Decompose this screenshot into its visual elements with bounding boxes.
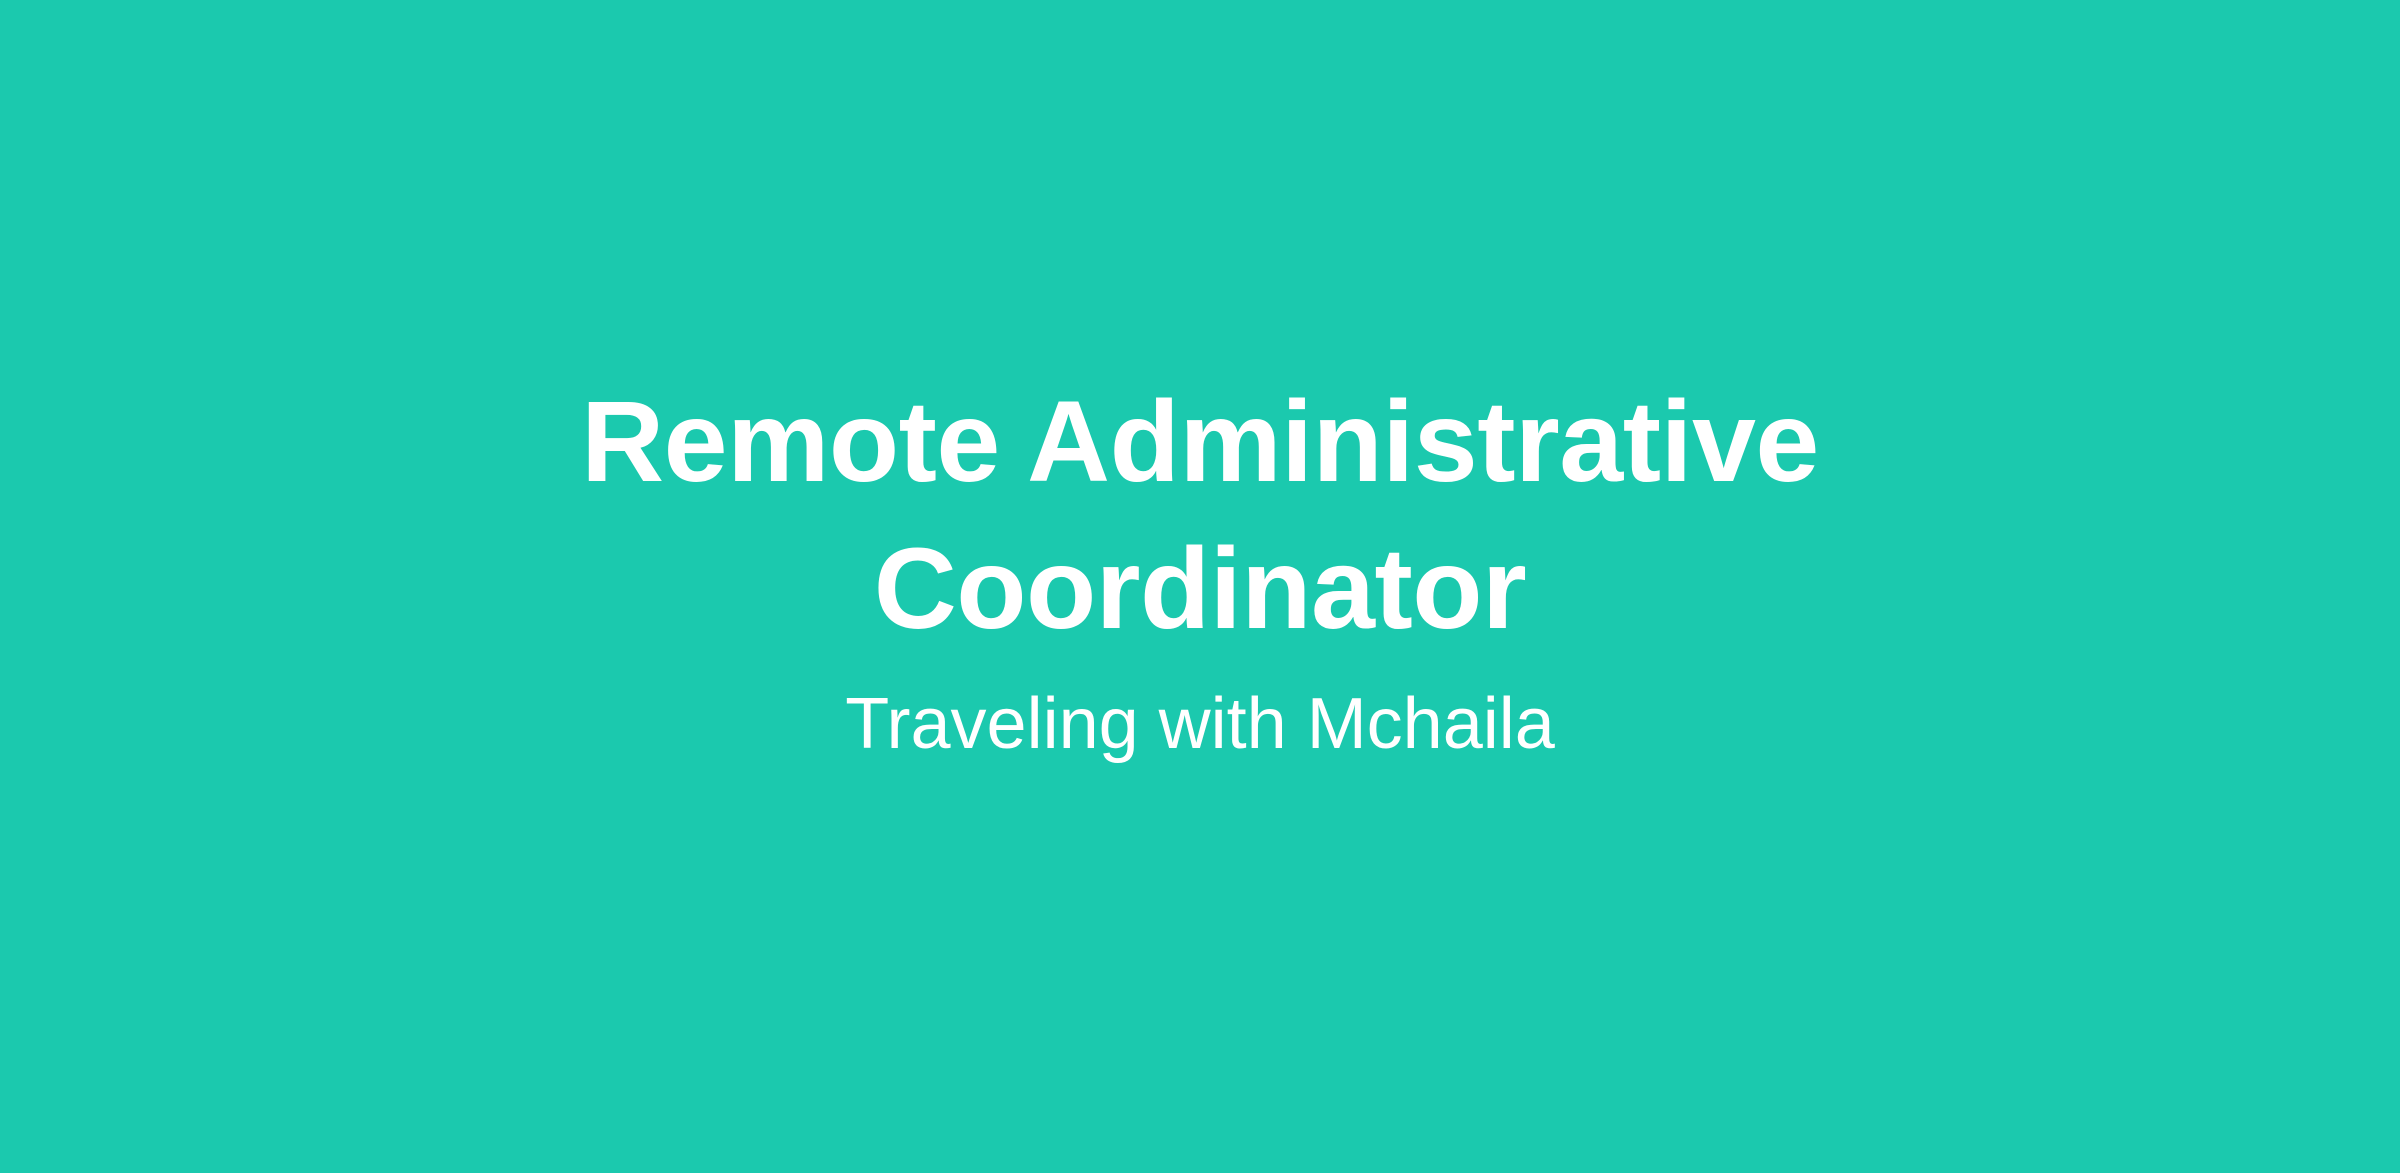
hero-text-block: Remote Administrative Coordinator Travel… <box>530 369 1870 768</box>
page-title: Remote Administrative Coordinator <box>530 369 1870 663</box>
page-subtitle: Traveling with Mchaila <box>845 681 1555 767</box>
hero-banner: Remote Administrative Coordinator Travel… <box>0 0 2400 1173</box>
